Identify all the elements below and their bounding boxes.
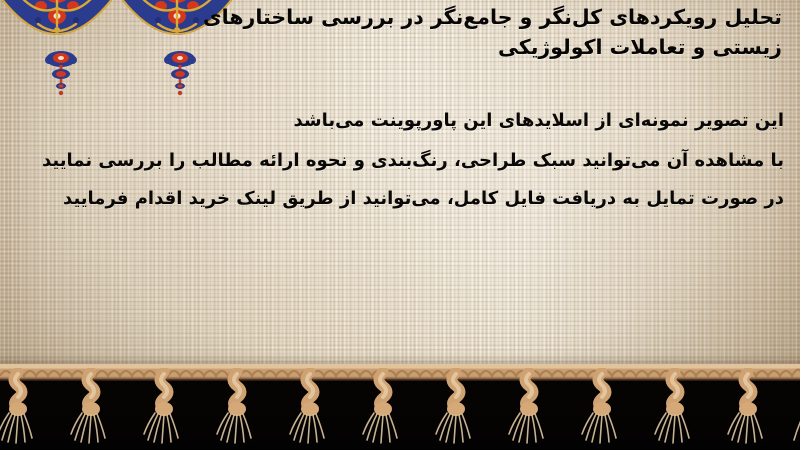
tassel-icon xyxy=(0,368,42,448)
body-line-design-review: با مشاهده آن می‌توانید سبک طراحی، رنگ‌بن… xyxy=(14,152,784,170)
tassel-icon xyxy=(786,368,800,448)
tassel-icon xyxy=(286,368,334,448)
tassel-fringe-band xyxy=(0,364,800,450)
tassel-icon xyxy=(140,368,188,448)
tassel-icon xyxy=(213,368,261,448)
slide-title: تحلیل رویکردهای کل‌نگر و جامع‌نگر در برر… xyxy=(22,2,782,63)
tassel-icon xyxy=(651,368,699,448)
body-line-sample-notice: این تصویر نمونه‌ای از اسلایدهای این پاور… xyxy=(14,112,784,130)
tassel-icon xyxy=(505,368,553,448)
body-line-purchase-link: در صورت تمایل به دریافت فایل کامل، می‌تو… xyxy=(14,190,784,208)
tassel-icon xyxy=(578,368,626,448)
slide-text-layer: تحلیل رویکردهای کل‌نگر و جامع‌نگر در برر… xyxy=(0,0,800,388)
tassel-icon xyxy=(67,368,115,448)
tassel-icon xyxy=(359,368,407,448)
tassel-icon xyxy=(724,368,772,448)
slide-body: این تصویر نمونه‌ای از اسلایدهای این پاور… xyxy=(14,112,784,228)
slide-title-line-2: زیستی و تعاملات اکولوژیکی xyxy=(22,32,782,62)
tassel-row xyxy=(0,368,800,450)
presentation-slide: تحلیل رویکردهای کل‌نگر و جامع‌نگر در برر… xyxy=(0,0,800,450)
tassel-icon xyxy=(432,368,480,448)
slide-title-line-1: تحلیل رویکردهای کل‌نگر و جامع‌نگر در برر… xyxy=(203,5,782,29)
